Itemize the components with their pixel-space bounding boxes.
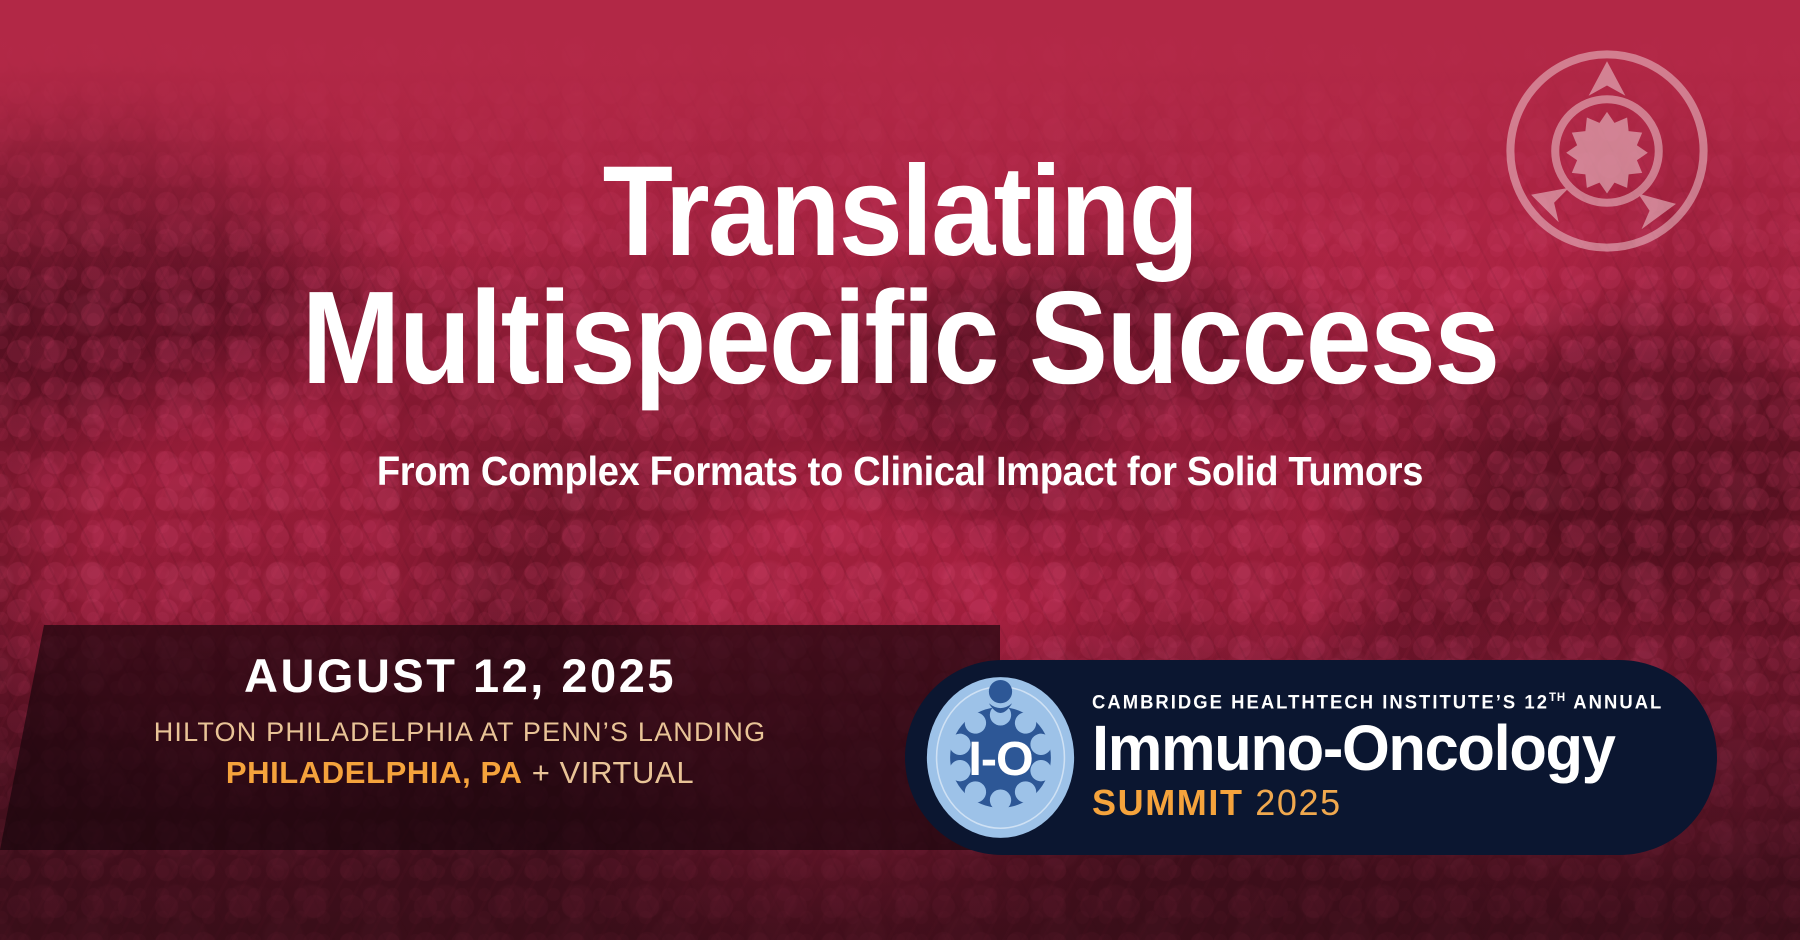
organizer-ordinal: TH (1549, 691, 1566, 704)
io-mark-label: I-O (968, 732, 1032, 786)
event-details: AUGUST 12, 2025 HILTON PHILADELPHIA AT P… (140, 648, 780, 791)
event-name: Immuno-Oncology (1092, 716, 1657, 781)
page-subtitle: From Complex Formats to Clinical Impact … (63, 448, 1737, 495)
conference-banner: Translating Multispecific Success From C… (0, 0, 1800, 940)
summit-label: SUMMIT (1092, 782, 1244, 823)
event-city: PHILADELPHIA, PA (226, 755, 523, 790)
summit-year: 2025 (1255, 782, 1342, 823)
headline-block: Translating Multispecific Success From C… (0, 150, 1800, 495)
summit-logo-text: CAMBRIDGE HEALTHTECH INSTITUTE’S 12TH AN… (1092, 691, 1681, 825)
event-date: AUGUST 12, 2025 (140, 648, 780, 703)
page-title-line-2: Multispecific Success (90, 274, 1710, 402)
page-title-line-1: Translating (90, 150, 1710, 274)
event-virtual: + VIRTUAL (532, 755, 694, 790)
event-location: PHILADELPHIA, PA + VIRTUAL (140, 755, 780, 791)
summit-year-line: SUMMIT 2025 (1092, 782, 1681, 824)
organizer-suffix: ANNUAL (1573, 692, 1663, 713)
event-venue: HILTON PHILADELPHIA AT PENN’S LANDING (140, 717, 780, 748)
virus-cell-icon: I-O (923, 675, 1078, 840)
organizer-prefix: CAMBRIDGE HEALTHTECH INSTITUTE’S 12 (1092, 692, 1549, 713)
summit-logo-panel: I-O CAMBRIDGE HEALTHTECH INSTITUTE’S 12T… (905, 660, 1717, 855)
organizer-line: CAMBRIDGE HEALTHTECH INSTITUTE’S 12TH AN… (1092, 691, 1663, 714)
